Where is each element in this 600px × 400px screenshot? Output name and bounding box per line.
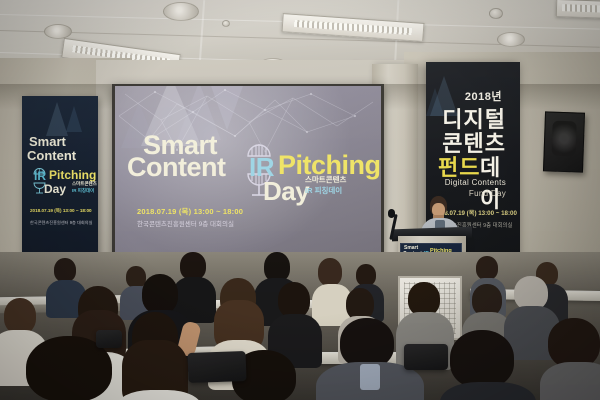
screen-event-date: 2018.07.19 (목) 13:00 ~ 18:00 <box>137 206 243 217</box>
head <box>356 264 376 286</box>
head <box>408 282 440 316</box>
podium-microphone-icon <box>388 209 395 218</box>
ceiling-spotlight <box>222 20 230 27</box>
banner-left-day: Day <box>44 182 66 196</box>
screen-event-venue: 한국콘텐츠진흥원센터 9층 대회의실 <box>137 218 234 228</box>
head <box>548 318 600 368</box>
screen-title-content: Content <box>127 152 225 183</box>
ceiling-light-fixture <box>556 0 600 19</box>
head <box>340 318 394 368</box>
ceiling-spotlight <box>489 8 503 19</box>
polygon-decoration <box>46 102 68 136</box>
head <box>180 252 206 280</box>
wall-speaker-icon <box>543 111 585 172</box>
banner-left-date: 2018.07.19 (목) 13:00 ~ 18:00 <box>30 208 92 214</box>
head-grey-hair <box>514 276 548 310</box>
banner-left-ir: IR <box>34 169 46 183</box>
banner-left-korean-1: 스마트콘텐츠 <box>72 181 97 187</box>
banner-right-english-2: Fund Day <box>469 189 506 198</box>
banner-left-pitching: Pitching <box>49 168 96 182</box>
head <box>278 282 310 318</box>
head <box>142 274 178 314</box>
ceiling-downlight <box>44 24 72 39</box>
banner-left-smart: Smart <box>29 134 66 149</box>
head <box>54 258 76 282</box>
head <box>450 330 514 388</box>
polygon-decoration <box>66 106 82 132</box>
ceiling-downlight <box>163 2 199 21</box>
torso <box>540 362 600 400</box>
chair <box>96 330 122 348</box>
head <box>4 298 36 334</box>
screen-korean-subtitle-1: 스마트콘텐츠 <box>305 174 346 185</box>
banner-left-venue: 한국콘텐츠진흥원센터 9층 대회의실 <box>30 220 92 226</box>
chair <box>187 351 246 383</box>
head <box>476 256 498 280</box>
chair <box>404 344 448 370</box>
conference-photo-scene: Smart Content IR Pitching Day 스마트콘텐츠 IR … <box>0 0 600 400</box>
screen-korean-subtitle-2: IR 피칭데이 <box>305 185 342 196</box>
ceiling-downlight <box>497 32 525 47</box>
shirt-collar <box>360 364 380 390</box>
head <box>318 258 342 286</box>
screen-title-day: Day <box>263 176 309 207</box>
banner-left-content: Content <box>27 148 76 163</box>
banner-left-korean-2: IR 피칭데이 <box>72 188 94 194</box>
banner-right-english-1: Digital Contents <box>445 178 506 187</box>
